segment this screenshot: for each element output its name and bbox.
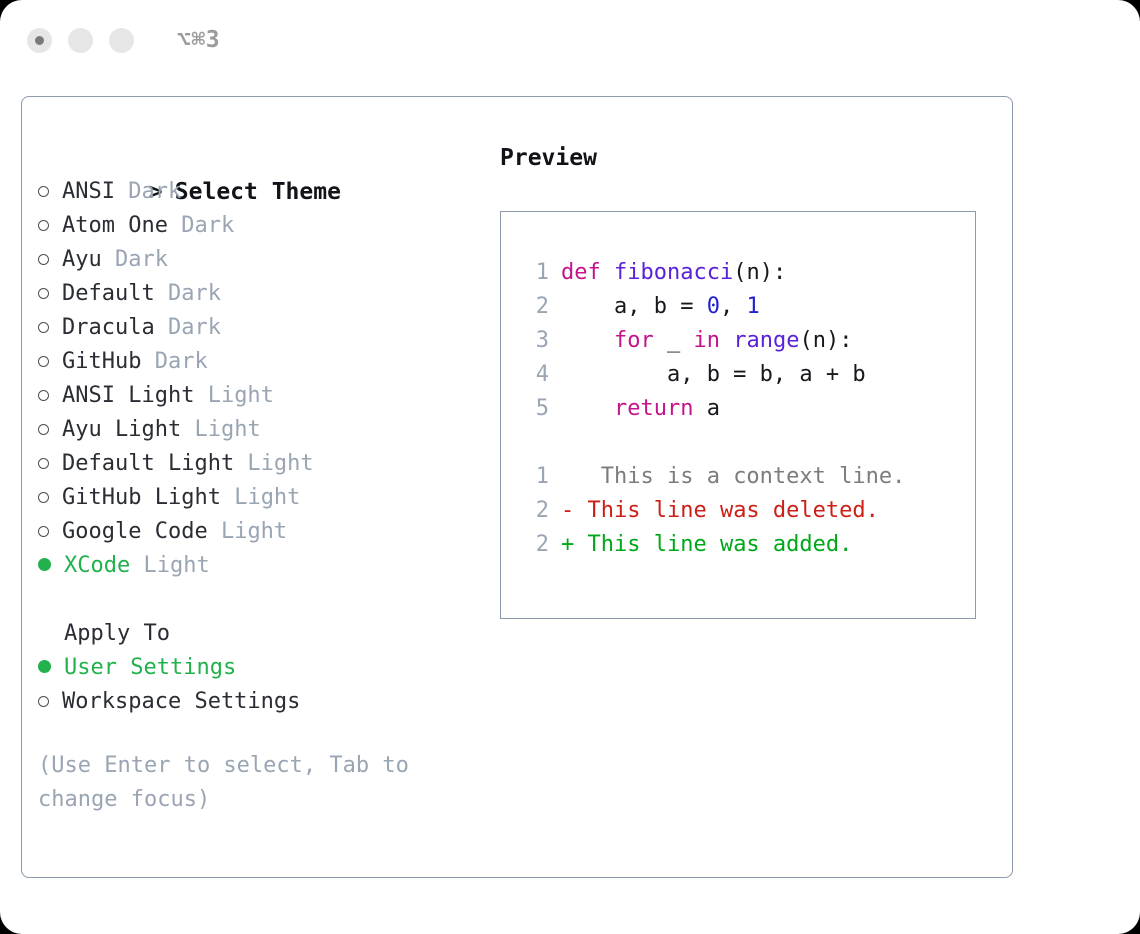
select-theme-header: >Select Theme: [38, 141, 488, 175]
dialog-frame: >Select Theme ANSI DarkAtom One DarkAyu …: [21, 96, 1013, 878]
theme-variant-badge: Dark: [155, 281, 221, 306]
diff-line: 2+ This line was added.: [523, 528, 975, 562]
theme-variant-badge: Dark: [115, 179, 181, 204]
theme-list-item[interactable]: Ayu Light Light: [38, 413, 488, 447]
diff-text: This line was deleted.: [574, 498, 879, 523]
theme-list-item[interactable]: Default Light Light: [38, 447, 488, 481]
theme-variant-badge: Light: [208, 519, 287, 544]
radio-unselected-icon: [38, 696, 49, 707]
theme-variant-badge: Dark: [168, 213, 234, 238]
code-token: ,: [720, 294, 747, 319]
apply-to-header: Apply To: [38, 617, 488, 651]
code-token: a, b = b, a + b: [561, 362, 866, 387]
radio-unselected-icon: [38, 186, 49, 197]
list-spacer: [38, 583, 488, 617]
radio-unselected-icon: [38, 220, 49, 231]
code-token: range: [733, 328, 799, 353]
radio-selected-icon: [38, 558, 51, 571]
theme-variant-badge: Dark: [155, 315, 221, 340]
code-token: (n):: [799, 328, 852, 353]
window-dot-active-inner: [35, 36, 44, 45]
theme-selector-panel: >Select Theme ANSI DarkAtom One DarkAyu …: [38, 141, 488, 817]
code-line: 5 return a: [523, 392, 975, 426]
apply-to-item[interactable]: User Settings: [38, 651, 488, 685]
theme-list-item[interactable]: ANSI Light Light: [38, 379, 488, 413]
code-token: _: [654, 328, 694, 353]
code-token: (n):: [733, 260, 786, 285]
radio-unselected-icon: [38, 322, 49, 333]
theme-list-item[interactable]: Atom One Dark: [38, 209, 488, 243]
apply-to-list: User SettingsWorkspace Settings: [38, 651, 488, 719]
radio-unselected-icon: [38, 526, 49, 537]
code-line-number: 4: [523, 358, 549, 392]
theme-name-label: Google Code: [62, 519, 208, 544]
radio-unselected-icon: [38, 458, 49, 469]
apply-to-label: Workspace Settings: [62, 689, 300, 714]
code-sample: 1def fibonacci(n):2 a, b = 0, 13 for _ i…: [523, 256, 975, 426]
theme-name-label: ANSI: [62, 179, 115, 204]
theme-list-item[interactable]: Google Code Light: [38, 515, 488, 549]
theme-name-label: Ayu Light: [62, 417, 181, 442]
radio-unselected-icon: [38, 288, 49, 299]
theme-name-label: ANSI Light: [62, 383, 194, 408]
code-token: 1: [746, 294, 759, 319]
window-dot-2-icon[interactable]: [68, 28, 93, 53]
preview-box: 1def fibonacci(n):2 a, b = 0, 13 for _ i…: [500, 211, 976, 619]
theme-variant-badge: Light: [130, 553, 209, 578]
code-line: 4 a, b = b, a + b: [523, 358, 975, 392]
theme-variant-badge: Light: [234, 451, 313, 476]
preview-title: Preview: [500, 141, 1000, 175]
theme-variant-badge: Dark: [141, 349, 207, 374]
radio-unselected-icon: [38, 356, 49, 367]
code-token: [720, 328, 733, 353]
theme-name-label: XCode: [64, 553, 130, 578]
theme-variant-badge: Light: [194, 383, 273, 408]
theme-name-label: GitHub: [62, 349, 141, 374]
title-bar: ⌥⌘3: [0, 0, 1140, 80]
diff-text: This line was added.: [574, 532, 852, 557]
code-token: a, b =: [561, 294, 707, 319]
diff-text: This is a context line.: [574, 464, 905, 489]
radio-unselected-icon: [38, 492, 49, 503]
radio-selected-icon: [38, 660, 51, 673]
theme-variant-badge: Dark: [102, 247, 168, 272]
code-token: fibonacci: [614, 260, 733, 285]
code-token: a: [693, 396, 720, 421]
theme-list-item[interactable]: Ayu Dark: [38, 243, 488, 277]
code-diff-gap: [523, 426, 975, 460]
theme-variant-badge: Light: [221, 485, 300, 510]
code-token: return: [614, 396, 693, 421]
code-token: [561, 328, 614, 353]
code-line-number: 3: [523, 324, 549, 358]
window-dot-active-icon[interactable]: [27, 28, 52, 53]
diff-sign: [561, 464, 574, 489]
theme-name-label: Atom One: [62, 213, 168, 238]
app-window: ⌥⌘3 >Select Theme ANSI DarkAtom One Dark…: [0, 0, 1140, 934]
radio-unselected-icon: [38, 390, 49, 401]
window-dot-3-icon[interactable]: [109, 28, 134, 53]
keyboard-hint-text: (Use Enter to select, Tab to change focu…: [38, 749, 448, 817]
diff-line: 2- This line was deleted.: [523, 494, 975, 528]
diff-line-number: 2: [523, 494, 549, 528]
theme-list: ANSI DarkAtom One DarkAyu DarkDefault Da…: [38, 175, 488, 583]
diff-sign: -: [561, 498, 574, 523]
theme-name-label: Dracula: [62, 315, 155, 340]
code-token: def: [561, 260, 614, 285]
theme-name-label: Ayu: [62, 247, 102, 272]
diff-sample: 1 This is a context line.2- This line wa…: [523, 460, 975, 562]
theme-list-item[interactable]: Default Dark: [38, 277, 488, 311]
radio-unselected-icon: [38, 254, 49, 265]
apply-to-item[interactable]: Workspace Settings: [38, 685, 488, 719]
code-line-number: 2: [523, 290, 549, 324]
code-token: [561, 396, 614, 421]
select-theme-header-label: Select Theme: [175, 179, 341, 205]
theme-list-item[interactable]: GitHub Dark: [38, 345, 488, 379]
theme-list-item[interactable]: XCode Light: [38, 549, 488, 583]
keyboard-shortcut-label: ⌥⌘3: [177, 27, 220, 53]
theme-variant-badge: Light: [181, 417, 260, 442]
code-token: 0: [707, 294, 720, 319]
theme-name-label: Default Light: [62, 451, 234, 476]
code-token: for: [614, 328, 654, 353]
radio-unselected-icon: [38, 424, 49, 435]
code-line: 2 a, b = 0, 1: [523, 290, 975, 324]
apply-to-label: User Settings: [64, 655, 236, 680]
diff-line-number: 1: [523, 460, 549, 494]
diff-sign: +: [561, 532, 574, 557]
diff-line-number: 2: [523, 528, 549, 562]
preview-panel: Preview 1def fibonacci(n):2 a, b = 0, 13…: [500, 141, 1000, 619]
theme-list-item[interactable]: Dracula Dark: [38, 311, 488, 345]
code-token: in: [693, 328, 720, 353]
code-line: 1def fibonacci(n):: [523, 256, 975, 290]
theme-name-label: GitHub Light: [62, 485, 221, 510]
code-line: 3 for _ in range(n):: [523, 324, 975, 358]
theme-name-label: Default: [62, 281, 155, 306]
code-line-number: 5: [523, 392, 549, 426]
code-line-number: 1: [523, 256, 549, 290]
theme-list-item[interactable]: GitHub Light Light: [38, 481, 488, 515]
diff-line: 1 This is a context line.: [523, 460, 975, 494]
